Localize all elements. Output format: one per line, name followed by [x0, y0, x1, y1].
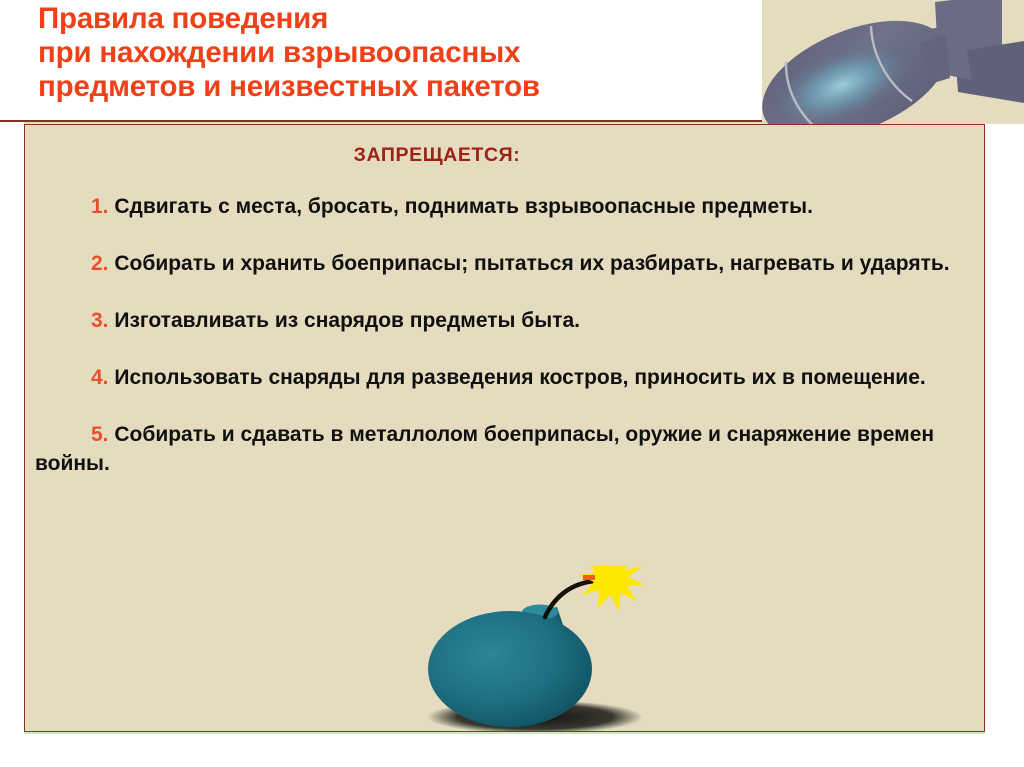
title-panel: Правила поведения при нахождении взрывоо… [0, 0, 762, 122]
slide-root: Правила поведения при нахождении взрывоо… [0, 0, 1024, 767]
list-item-number: 1. [91, 195, 109, 218]
list-item-text: Использовать снаряды для разведения кост… [109, 366, 926, 389]
bottom-white-margin [0, 734, 1024, 767]
content-panel: ЗАПРЕЩАЕТСЯ: 1. Сдвигать с места, бросат… [24, 124, 985, 732]
list-item-number: 2. [91, 252, 109, 275]
spark-icon [578, 565, 645, 611]
page-title: Правила поведения при нахождении взрывоо… [38, 2, 754, 104]
list-item-text: Собирать и хранить боеприпасы; пытаться … [109, 252, 950, 275]
rules-list: 1. Сдвигать с места, бросать, поднимать … [35, 192, 975, 506]
list-item: 2. Собирать и хранить боеприпасы; пытать… [35, 249, 975, 278]
list-item-text: Изготавливать из снарядов предметы быта. [109, 309, 580, 332]
list-item-text: Собирать и сдавать в металлолом боеприпа… [35, 423, 934, 475]
prohibition-heading: ЗАПРЕЩАЕТСЯ: [25, 144, 984, 167]
list-item-number: 3. [91, 309, 109, 332]
list-item: 5. Собирать и сдавать в металлолом боепр… [35, 420, 975, 478]
list-item: 3. Изготавливать из снарядов предметы бы… [35, 306, 975, 335]
list-item: 4. Использовать снаряды для разведения к… [35, 363, 975, 392]
right-white-margin [985, 124, 1024, 734]
bomb-illustration [405, 565, 725, 732]
left-white-margin [0, 122, 24, 734]
list-item-number: 5. [91, 423, 109, 446]
list-item-number: 4. [91, 366, 109, 389]
list-item: 1. Сдвигать с места, бросать, поднимать … [35, 192, 975, 221]
round-bomb-with-lit-fuse-icon [405, 565, 725, 732]
list-item-text: Сдвигать с места, бросать, поднимать взр… [109, 195, 813, 218]
